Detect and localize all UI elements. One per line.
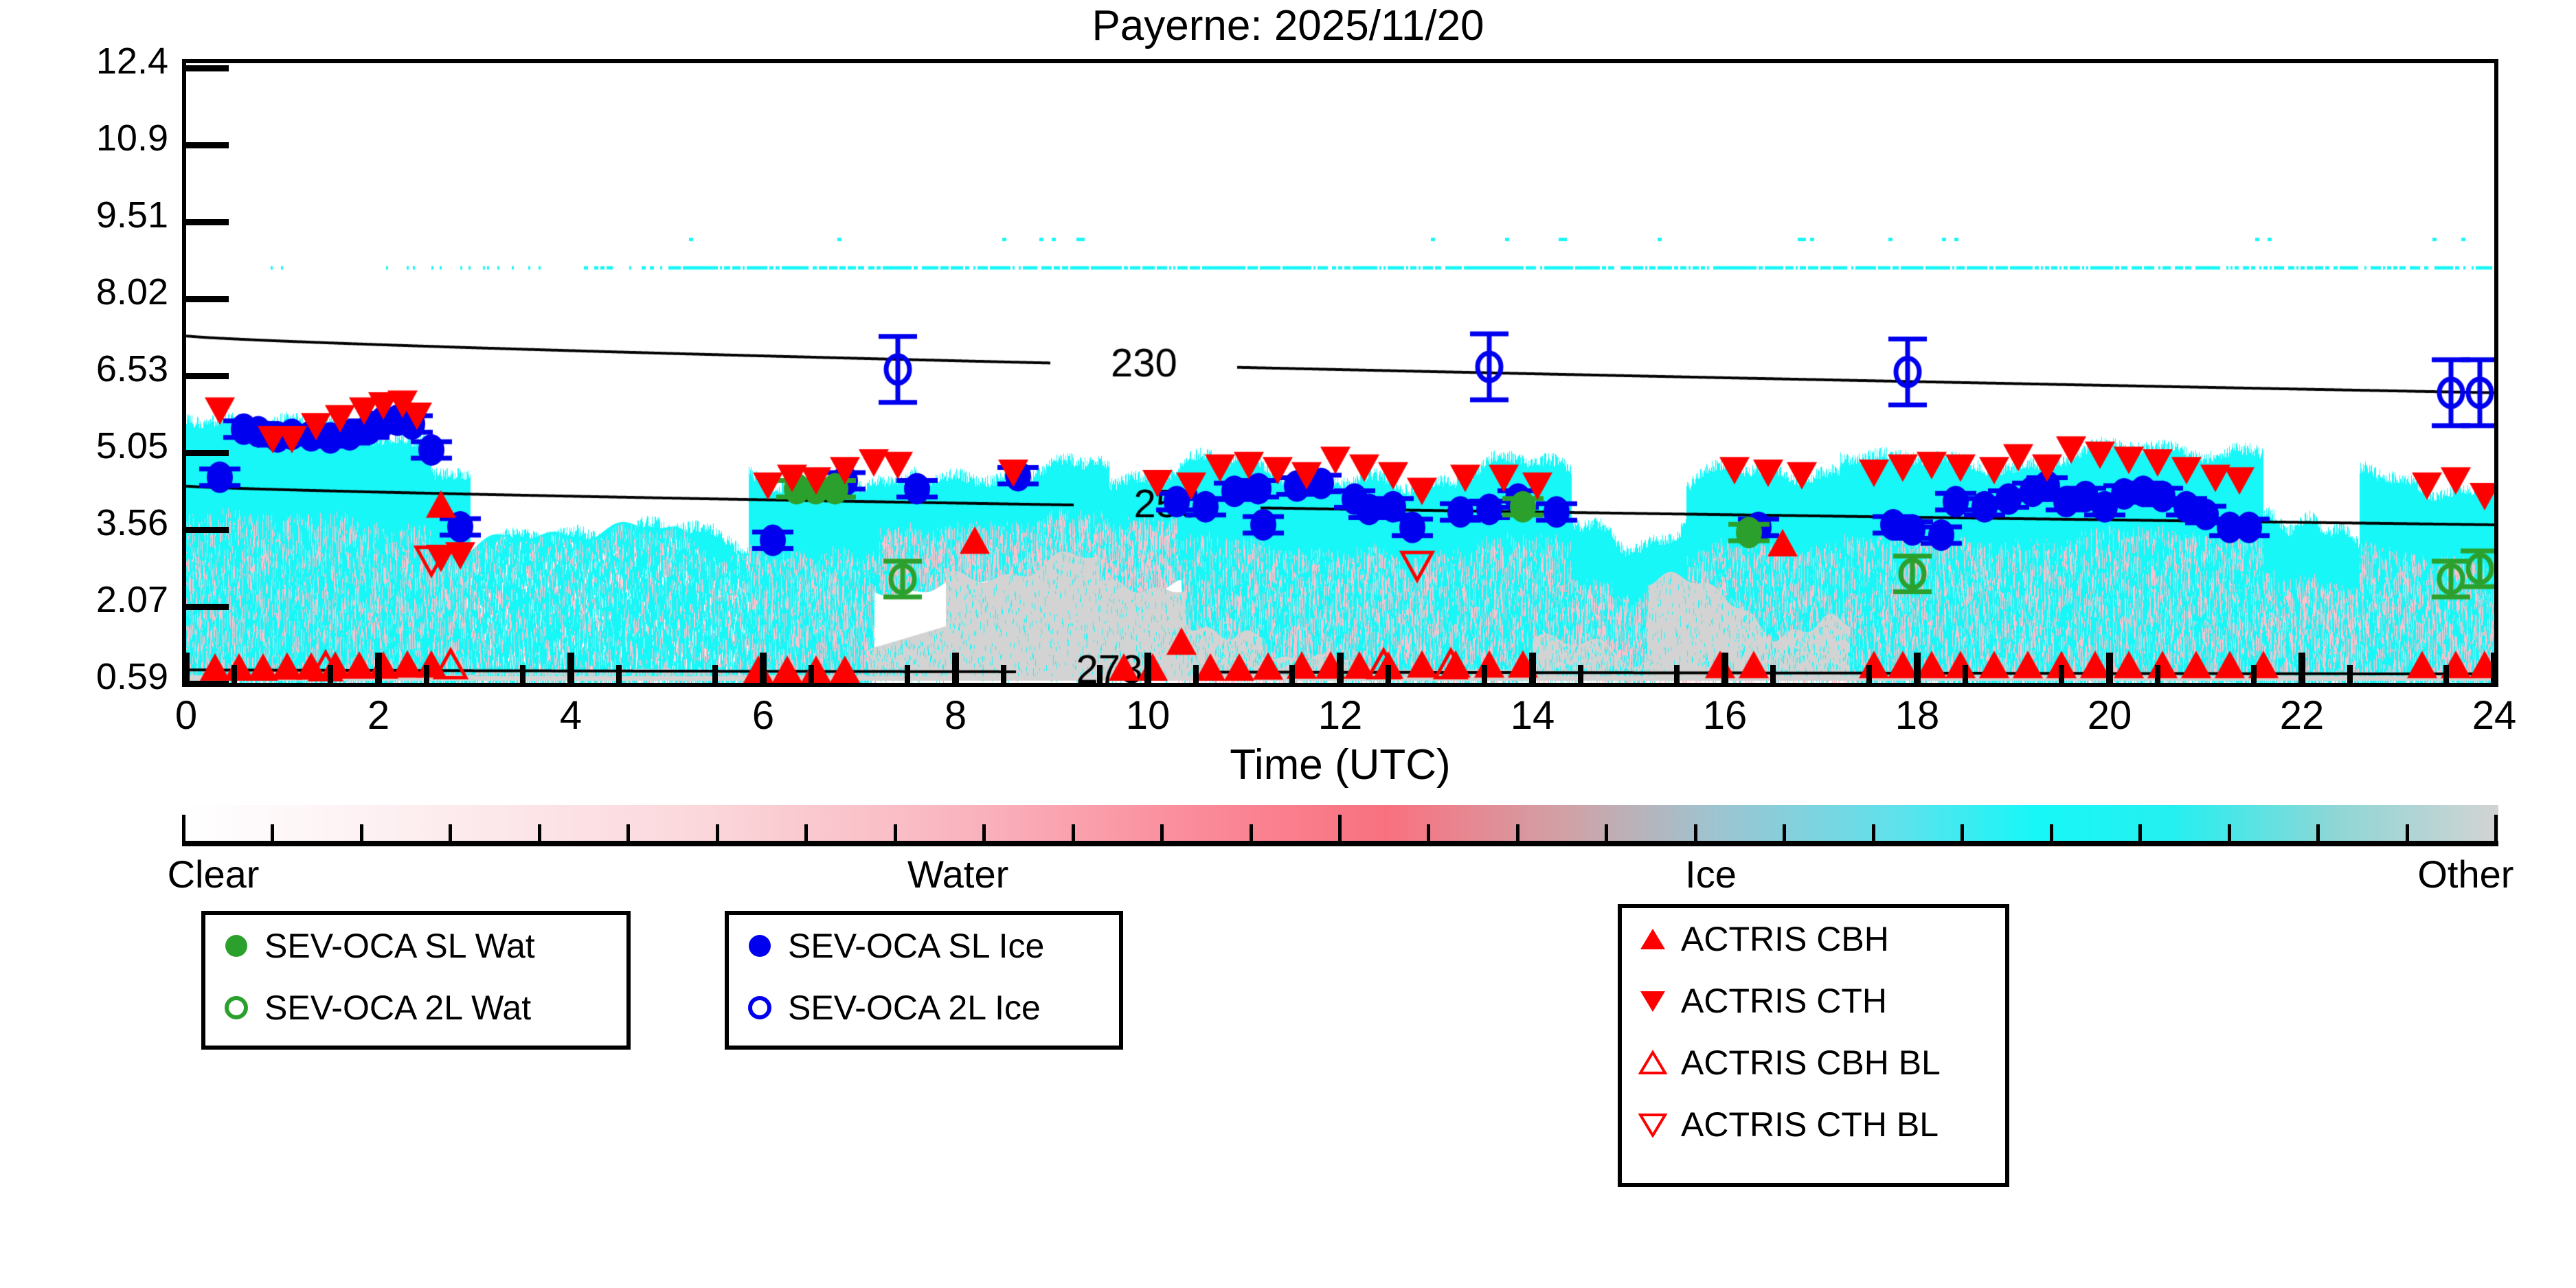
y-tick-labels: 12.410.99.518.026.535.053.562.070.59 (0, 0, 168, 756)
axis-tick (231, 665, 237, 683)
axis-tick (2106, 653, 2113, 683)
legend-item-label: ACTRIS CBH (1681, 919, 1889, 959)
x-tick-label: 0 (175, 692, 197, 738)
colorbar-tick (2228, 824, 2231, 842)
legend-item-label: SEV-OCA 2L Ice (788, 988, 1041, 1028)
legend-sev-oca-water: SEV-OCA SL WatSEV-OCA 2L Wat (201, 911, 631, 1050)
legend-item[interactable]: ACTRIS CTH BL (1622, 1094, 2005, 1155)
axis-tick (1001, 665, 1006, 683)
markers-layer (186, 63, 2494, 683)
colorbar-tick (894, 824, 897, 842)
axis-tick (567, 653, 574, 683)
y-tick-label: 6.53 (0, 348, 168, 390)
axis-tick (328, 665, 333, 683)
colorbar-label: Clear (168, 852, 260, 896)
open-circle-icon (744, 996, 776, 1019)
colorbar-tick (982, 824, 986, 842)
axis-tick (952, 653, 959, 683)
filled-circle-icon (221, 935, 252, 957)
legend-item-label: SEV-OCA 2L Wat (264, 988, 531, 1028)
axis-tick (1386, 665, 1391, 683)
axis-tick (1866, 665, 1872, 683)
axis-tick (1289, 665, 1295, 683)
legend-sev-oca-ice: SEV-OCA SL IceSEV-OCA 2L Ice (725, 911, 1123, 1050)
axis-tick (1529, 653, 1536, 683)
x-tick-label: 8 (945, 692, 967, 738)
axis-tick (186, 296, 229, 302)
colorbar-tick (2316, 824, 2320, 842)
open-circle-icon (225, 996, 248, 1019)
open-circle-icon (221, 996, 252, 1019)
axis-tick (1770, 665, 1776, 683)
legend-item-label: ACTRIS CTH (1681, 981, 1887, 1021)
legend-item[interactable]: SEV-OCA 2L Wat (205, 977, 626, 1039)
colorbar-label: Ice (1685, 852, 1737, 896)
open-triangle-down-icon (1637, 1111, 1669, 1138)
y-tick-label: 12.4 (0, 40, 168, 82)
axis-tick (186, 65, 229, 71)
axis-tick (1963, 665, 1968, 683)
x-tick-label: 12 (1318, 692, 1363, 738)
axis-tick (2347, 665, 2353, 683)
x-tick-label: 20 (2088, 692, 2132, 738)
x-tick-label: 14 (1511, 692, 1555, 738)
axis-tick (1578, 665, 1583, 683)
legend-item[interactable]: ACTRIS CBH BL (1622, 1032, 2005, 1094)
axis-tick (186, 681, 229, 687)
x-tick-label: 10 (1126, 692, 1171, 738)
colorbar-tick (1427, 824, 1430, 842)
axis-tick (760, 653, 767, 683)
y-tick-label: 5.05 (0, 425, 168, 467)
colorbar-tick (1250, 824, 1253, 842)
x-tick-label: 22 (2280, 692, 2325, 738)
colorbar-tick (1605, 824, 1608, 842)
x-tick-label: 4 (560, 692, 582, 738)
y-tick-label: 2.07 (0, 578, 168, 621)
axis-tick (1482, 665, 1487, 683)
axis-tick (183, 653, 190, 683)
x-tick-label: 24 (2472, 692, 2517, 738)
axis-tick (616, 665, 622, 683)
axis-tick (809, 665, 814, 683)
colorbar-tick (1694, 824, 1697, 842)
colorbar-tick (716, 824, 719, 842)
axis-tick (712, 665, 718, 683)
axis-tick (1914, 653, 1921, 683)
y-tick-label: 8.02 (0, 271, 168, 313)
axis-tick (1193, 665, 1199, 683)
filled-circle-icon (744, 935, 776, 957)
axis-tick (186, 604, 229, 610)
colorbar-tick (1872, 824, 1875, 842)
axis-tick (905, 665, 910, 683)
legend-item-label: SEV-OCA SL Ice (788, 926, 1044, 966)
y-tick-label: 0.59 (0, 655, 168, 698)
colorbar-tick (1961, 824, 1964, 842)
colorbar-tick (449, 824, 452, 842)
plot-area (182, 59, 2498, 687)
axis-tick (1721, 653, 1728, 683)
colorbar-tick (2406, 824, 2409, 842)
colorbar-tick (2138, 824, 2142, 842)
open-circle-icon (748, 996, 771, 1019)
y-tick-label: 9.51 (0, 194, 168, 236)
axis-tick (1674, 665, 1680, 683)
filled-circle-icon (749, 935, 771, 957)
colorbar-tick (182, 815, 185, 842)
legend-actris: ACTRIS CBHACTRIS CTHACTRIS CBH BLACTRIS … (1618, 904, 2009, 1187)
open-triangle-up-icon (1637, 1050, 1669, 1076)
axis-tick (2443, 665, 2449, 683)
y-tick-label: 3.56 (0, 501, 168, 544)
colorbar-tick (1160, 824, 1164, 842)
axis-tick (375, 653, 382, 683)
axis-tick (186, 219, 229, 225)
x-tick-label: 16 (1703, 692, 1748, 738)
axis-tick (2298, 653, 2305, 683)
axis-tick (1097, 665, 1103, 683)
axis-tick (2059, 665, 2064, 683)
legend-item[interactable]: ACTRIS CTH (1622, 970, 2005, 1032)
filled-triangle-up-icon (1637, 926, 1669, 952)
colorbar-tick (1516, 824, 1519, 842)
axis-tick (424, 665, 429, 683)
filled-circle-icon (225, 935, 247, 957)
legend-item[interactable]: SEV-OCA SL Wat (205, 915, 626, 977)
x-tick-label: 6 (752, 692, 774, 738)
legend-item[interactable]: SEV-OCA 2L Ice (729, 977, 1119, 1039)
legend-item-label: ACTRIS CBH BL (1681, 1043, 1941, 1083)
colorbar-tick (538, 824, 541, 842)
axis-tick (1337, 653, 1344, 683)
axis-tick (186, 450, 229, 456)
colorbar-tick (2494, 815, 2498, 842)
colorbar-tick (804, 824, 808, 842)
axis-tick (2491, 653, 2498, 683)
axis-tick (2155, 665, 2160, 683)
y-tick-label: 10.9 (0, 117, 168, 159)
colorbar-label: Other (2417, 852, 2513, 896)
colorbar-tick (1338, 815, 1342, 842)
legend-item-label: SEV-OCA SL Wat (264, 926, 535, 966)
colorbar-tick (1072, 824, 1075, 842)
filled-triangle-down-icon (1637, 988, 1669, 1014)
colorbar-tick (271, 824, 274, 842)
colorbar-tick (2050, 824, 2053, 842)
axis-tick (1144, 653, 1151, 683)
x-tick-label: 18 (1895, 692, 1940, 738)
axis-tick (186, 527, 229, 533)
legend-item[interactable]: SEV-OCA SL Ice (729, 915, 1119, 977)
axis-tick (2251, 665, 2257, 683)
x-axis-label: Time (UTC) (1230, 741, 1450, 789)
x-tick-label: 2 (368, 692, 389, 738)
axis-tick (186, 373, 229, 379)
colorbar-tick (1783, 824, 1786, 842)
figure: Payerne: 2025/11/20 Height AMSL (km) 12.… (0, 0, 2576, 1288)
colorbar-tick (626, 824, 630, 842)
axis-tick (186, 142, 229, 148)
legend-item[interactable]: ACTRIS CBH (1622, 908, 2005, 970)
legend-item-label: ACTRIS CTH BL (1681, 1105, 1939, 1144)
colorbar-tick (360, 824, 363, 842)
chart-title: Payerne: 2025/11/20 (0, 1, 2576, 50)
axis-tick (520, 665, 526, 683)
colorbar-label: Water (907, 852, 1008, 896)
